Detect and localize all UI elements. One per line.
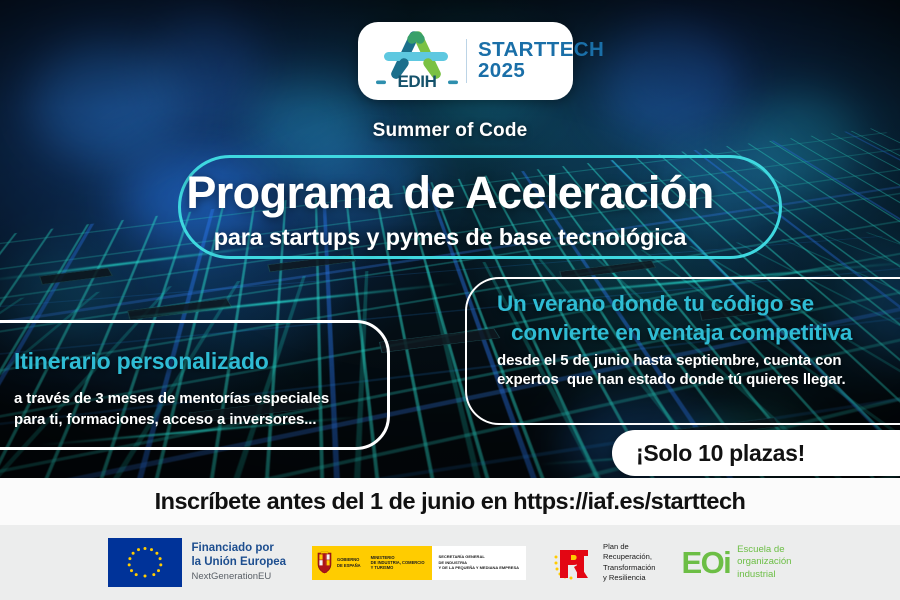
eoi-line3: industrial <box>737 569 791 581</box>
gobierno-espana-logo: GOBIERNO DE ESPAÑA MINISTERIO DE INDUSTR… <box>312 546 526 580</box>
ministerio-line3: Y TURISMO <box>371 565 425 570</box>
right-callout-heading: Un verano donde tu código se convierte e… <box>497 290 887 348</box>
right-heading-line2: convierte en ventaja competitiva <box>511 319 887 348</box>
ministerio-name-block: MINISTERIO DE INDUSTRIA, COMERCIO Y TURI… <box>371 555 425 571</box>
registration-text[interactable]: Inscríbete antes del 1 de junio en https… <box>155 488 746 515</box>
eu-line1: Financiado por <box>191 542 286 556</box>
right-callout-body: desde el 5 de junio hasta septiembre, cu… <box>497 351 887 391</box>
eu-flag-icon <box>108 538 182 587</box>
right-body-line2: expertos que han estado donde tú quieres… <box>497 371 846 388</box>
left-body-line2: para ti, formaciones, acceso a inversore… <box>14 409 384 430</box>
starttech-wordmark: STARTTECH 2025 <box>478 40 604 82</box>
edih-a-mark-icon: EDIH <box>374 30 460 92</box>
page-title: Programa de Aceleración <box>0 167 900 219</box>
funding-logos-footer: Financiado por la Unión Europea NextGene… <box>0 525 900 600</box>
left-callout-body: a través de 3 meses de mentorías especia… <box>14 388 384 431</box>
eu-funding-logo: Financiado por la Unión Europea NextGene… <box>108 538 286 587</box>
prtr-pr-mark-icon <box>552 543 596 583</box>
right-heading-line1: Un verano donde tu código se <box>497 291 814 316</box>
svg-text:EDIH: EDIH <box>397 72 436 91</box>
secretaria-line3: Y DE LA PEQUEÑA Y MEDIANA EMPRESA <box>439 565 519 571</box>
eu-line3: NextGenerationEU <box>191 571 286 582</box>
right-body-line1: desde el 5 de junio hasta septiembre, cu… <box>497 352 841 369</box>
eoi-line1: Escuela de <box>737 544 791 556</box>
gobierno-yellow-panel: GOBIERNO DE ESPAÑA MINISTERIO DE INDUSTR… <box>312 546 431 580</box>
hero-kicker: Summer of Code <box>0 120 900 142</box>
hero-subtitle: para startups y pymes de base tecnológic… <box>0 224 900 251</box>
starttech-brand-line1: STARTTECH <box>478 40 604 61</box>
starttech-logo-badge[interactable]: EDIH STARTTECH 2025 <box>358 22 573 100</box>
eu-funding-text: Financiado por la Unión Europea NextGene… <box>191 542 286 582</box>
prtr-line2: Recuperación, <box>603 552 655 562</box>
eoi-logo-icon: EOi <box>682 547 731 578</box>
prtr-text: Plan de Recuperación, Transformación y R… <box>603 542 655 582</box>
eoi-logo: EOi Escuela de organización industrial <box>682 544 792 581</box>
gobierno-line1: GOBIERNO <box>337 557 361 562</box>
eu-line2: la Unión Europea <box>191 556 286 570</box>
logo-divider <box>466 39 467 83</box>
registration-band: Inscríbete antes del 1 de junio en https… <box>0 478 900 525</box>
prtr-line4: y Resiliencia <box>603 573 655 583</box>
secretaria-name-block: SECRETARÍA GENERAL DE INDUSTRIA Y DE LA … <box>439 554 519 571</box>
left-body-line1: a través de 3 meses de mentorías especia… <box>14 388 384 409</box>
prtr-logo: Plan de Recuperación, Transformación y R… <box>552 542 655 582</box>
eoi-text: Escuela de organización industrial <box>737 544 791 581</box>
seats-badge: ¡Solo 10 plazas! <box>612 430 900 476</box>
starttech-brand-line2: 2025 <box>478 61 604 82</box>
prtr-line3: Transformación <box>603 563 655 573</box>
poster-canvas: EDIH STARTTECH 2025 Summer of Code Progr… <box>0 0 900 600</box>
left-callout: Itinerario personalizado a través de 3 m… <box>14 348 384 431</box>
gobierno-name-block: GOBIERNO DE ESPAÑA <box>337 557 361 568</box>
eoi-line2: organización <box>737 556 791 568</box>
spain-coat-of-arms-icon <box>316 551 333 574</box>
left-callout-heading: Itinerario personalizado <box>14 348 384 375</box>
prtr-line1: Plan de <box>603 542 655 552</box>
secretaria-general-panel: SECRETARÍA GENERAL DE INDUSTRIA Y DE LA … <box>431 546 526 580</box>
right-callout: Un verano donde tu código se convierte e… <box>497 290 887 390</box>
gobierno-line2: DE ESPAÑA <box>337 563 361 568</box>
